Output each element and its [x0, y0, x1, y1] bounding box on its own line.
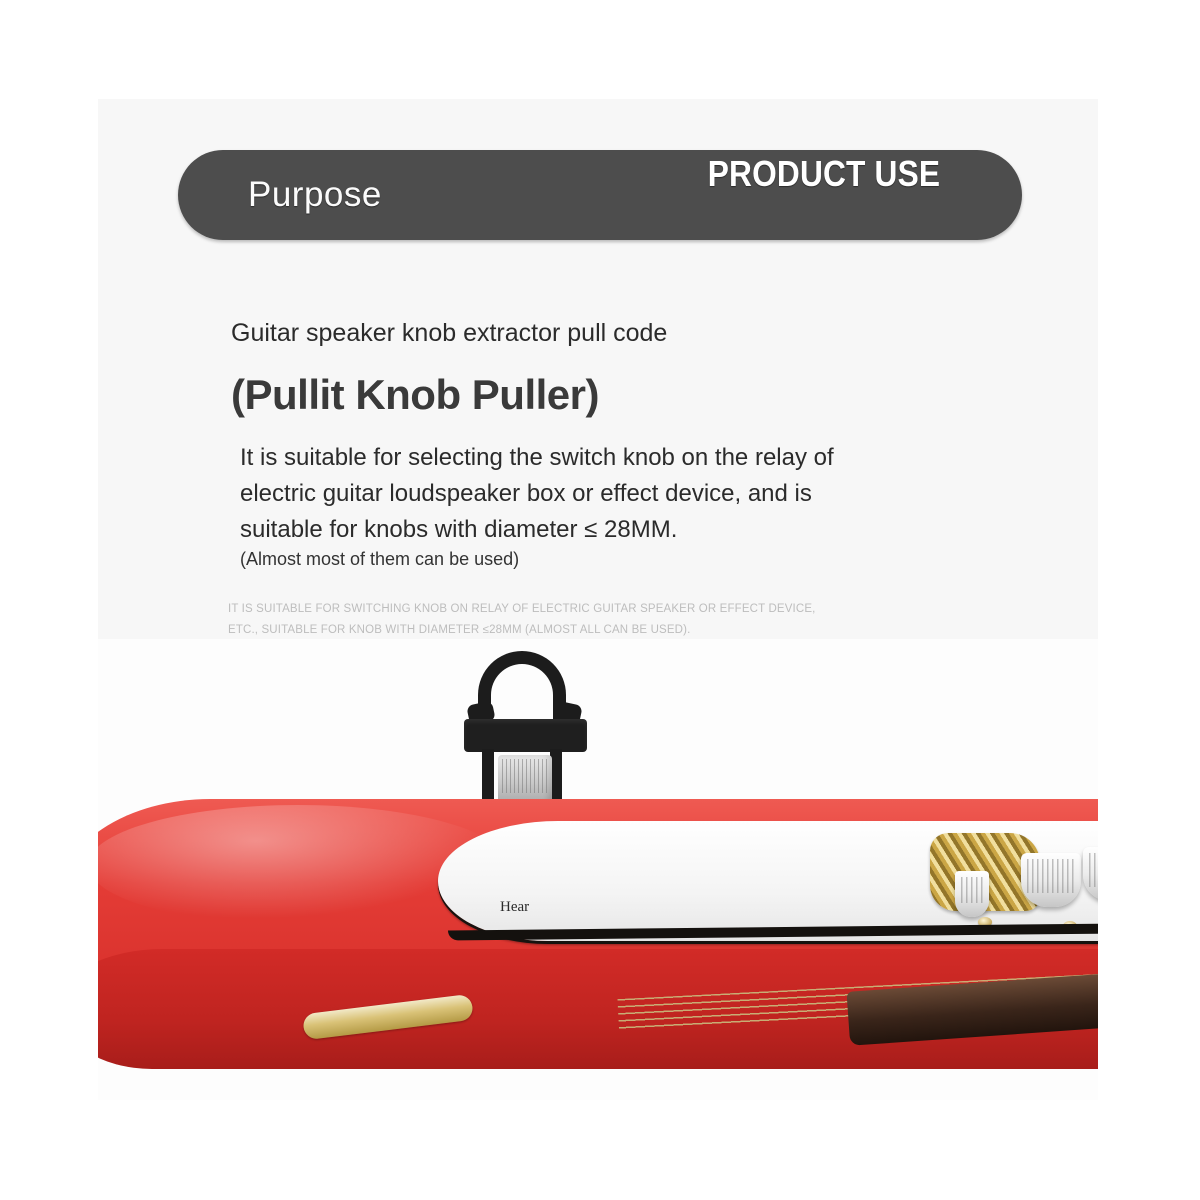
guitar-knob-small [955, 871, 989, 917]
watermark-line-1: IT IS SUITABLE FOR SWITCHING KNOB ON REL… [228, 599, 868, 620]
tool-gripped-knob [498, 755, 552, 805]
watermark-line-2: ETC., SUITABLE FOR KNOB WITH DIAMETER ≤2… [228, 620, 868, 641]
product-use-banner: Purpose PRODUCT USE [178, 150, 1022, 240]
product-description: It is suitable for selecting the switch … [240, 440, 840, 548]
content-panel: Purpose PRODUCT USE Guitar speaker knob … [98, 99, 1098, 1100]
guitar-knob-1 [1021, 853, 1081, 907]
product-note: (Almost most of them can be used) [240, 549, 519, 570]
product-title: (Pullit Knob Puller) [231, 371, 599, 419]
electric-guitar: Hear [98, 799, 1098, 1099]
banner-product-use-text: PRODUCT USE [707, 153, 940, 195]
product-subtitle: Guitar speaker knob extractor pull code [231, 319, 667, 348]
banner-product-use-label: PRODUCT USE [676, 174, 940, 216]
guitar-knob-2 [1083, 847, 1098, 901]
product-photo: Hear [98, 639, 1098, 1100]
product-page: Purpose PRODUCT USE Guitar speaker knob … [0, 0, 1200, 1200]
tool-crossbar [464, 719, 587, 752]
banner-purpose-label: Purpose [248, 175, 382, 215]
guitar-pickguard: Hear [438, 821, 1098, 941]
knob-puller-tool [450, 651, 600, 811]
watermark-text-block: IT IS SUITABLE FOR SWITCHING KNOB ON REL… [228, 599, 868, 641]
pickguard-label: Hear [500, 899, 529, 916]
